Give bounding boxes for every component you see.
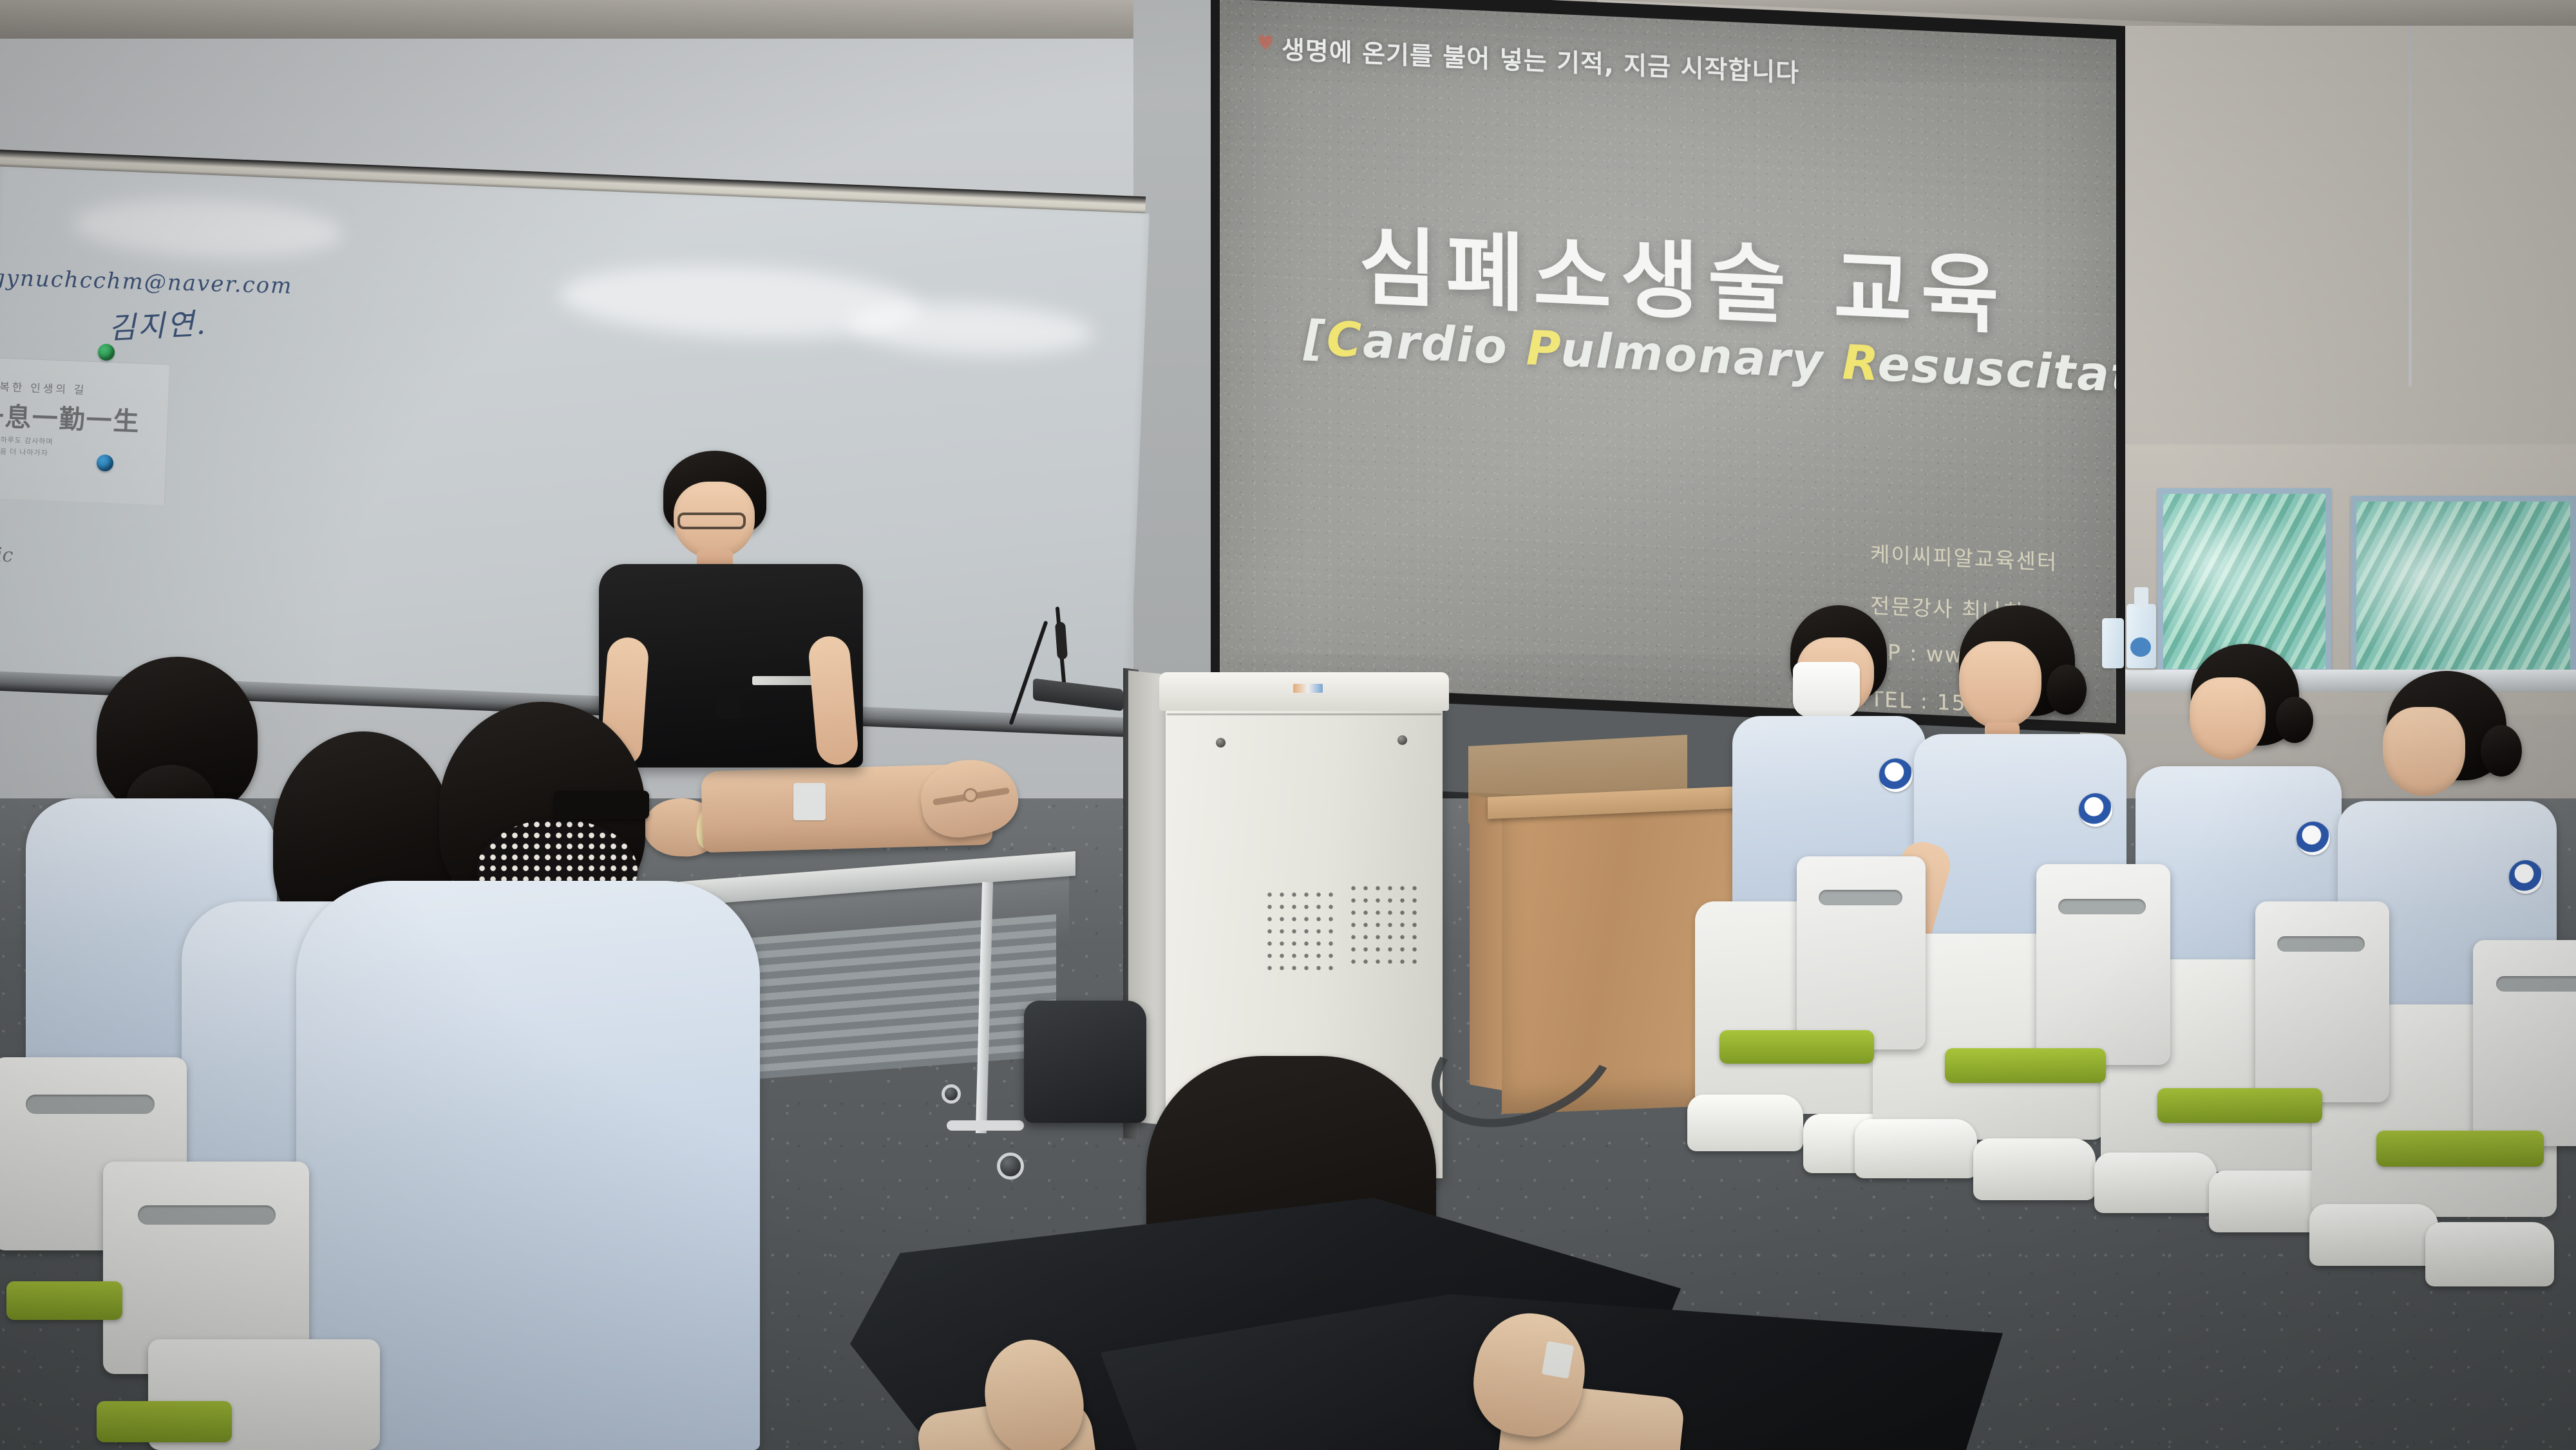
podium-speaker-grille xyxy=(1264,889,1338,976)
nurse-4-bun xyxy=(2481,725,2522,777)
subtitle-highlight-letter: P xyxy=(1526,321,1561,377)
poster-line-main: 一息一勤一生 xyxy=(0,395,141,438)
window-right xyxy=(2351,496,2576,689)
podium-screw xyxy=(1216,738,1226,748)
face-mask xyxy=(1793,662,1860,717)
hand-sanitizer-pump-bottle[interactable] xyxy=(2126,604,2156,668)
hair-bow xyxy=(554,791,649,819)
shoulder-badge xyxy=(1879,758,1913,792)
podium-sticker xyxy=(1293,684,1323,693)
manikin-neck-dial xyxy=(963,788,978,802)
whiteboard-glare xyxy=(71,194,344,263)
chair-seat-cushion xyxy=(97,1401,232,1442)
slide-title: 심폐소생술 교육 xyxy=(1329,197,2038,352)
whiteboard[interactable] xyxy=(0,166,1150,728)
chair-back[interactable] xyxy=(1797,856,1926,1050)
sanitizer-pump-icon xyxy=(2134,587,2148,607)
magnet-green-icon[interactable] xyxy=(98,344,115,361)
presentation-clicker[interactable] xyxy=(716,688,741,719)
window-glass-foliage xyxy=(2163,494,2325,669)
subtitle-text: ulmonary xyxy=(1560,322,1842,390)
chair-back[interactable] xyxy=(2473,940,2576,1146)
chair-handle-slot xyxy=(2496,976,2576,992)
table-caster-wheel xyxy=(942,1084,961,1104)
nurse-2-face xyxy=(1959,641,2041,729)
backpack[interactable] xyxy=(1024,1001,1146,1123)
table-caster-wheel xyxy=(997,1153,1024,1180)
classroom-scene: gynuchcchm@naver.com 김지연. 행복한 인생의 길 一息一勤… xyxy=(0,0,2576,1450)
chair-back[interactable] xyxy=(2255,901,2389,1102)
slide-footer-org: 케이씨피알교육센터 xyxy=(1870,537,2058,576)
nurse-4-face xyxy=(2383,707,2465,796)
chair-handle-slot xyxy=(138,1205,276,1225)
chair-handle-slot xyxy=(2277,936,2365,952)
chair-handle-slot xyxy=(26,1095,155,1114)
shoulder-badge xyxy=(2509,860,2543,894)
subtitle-highlight-letter: R xyxy=(1842,335,1877,392)
subtitle-text: ardio xyxy=(1363,313,1526,376)
chair-seat-cushion xyxy=(1719,1030,1874,1064)
poster-line-sub2: 한 걸음 더 나아가자 xyxy=(0,446,48,458)
nurse-1-shoe xyxy=(1687,1095,1803,1151)
podium-seam xyxy=(1167,713,1441,715)
whiteboard-corner-mark: ic xyxy=(0,544,14,567)
window-glass-foliage xyxy=(2356,502,2570,683)
heart-icon xyxy=(1257,34,1274,50)
chair-handle-slot xyxy=(2058,899,2146,914)
nurse-2-bun xyxy=(2047,664,2087,715)
podium-screw xyxy=(1397,735,1407,745)
table-foot xyxy=(947,1120,1024,1131)
nurse-3-shoe xyxy=(2094,1153,2217,1213)
subtitle-text: [ xyxy=(1303,310,1327,367)
chair-seat-cushion xyxy=(6,1281,122,1320)
poster-line-sub1: 오늘 하루도 감사하며 xyxy=(0,434,53,447)
wall-seam xyxy=(2409,26,2412,386)
sanitizer-label xyxy=(2130,637,2151,657)
subtitle-text: esuscitation] xyxy=(1878,336,2116,408)
nurse-4-shoe xyxy=(2425,1222,2554,1286)
chair-seat-cushion xyxy=(1945,1048,2106,1083)
manikin-chest-pad xyxy=(793,783,826,820)
magnet-blue-icon[interactable] xyxy=(97,455,113,471)
podium-speaker-grille xyxy=(1347,882,1422,970)
screen-texture xyxy=(1220,0,2116,723)
chair-back[interactable] xyxy=(2036,864,2170,1065)
subtitle-highlight-letter: C xyxy=(1327,312,1363,369)
chair-seat-cushion xyxy=(2376,1131,2544,1167)
poster-line-top: 행복한 인생의 길 xyxy=(0,377,87,397)
chair-seat-cushion xyxy=(2157,1088,2322,1123)
glasses-icon xyxy=(677,513,746,529)
slide-tagline: 생명에 온기를 불어 넣는 기적, 지금 시작합니다 xyxy=(1282,30,1799,89)
nurse-3-bun xyxy=(2276,697,2313,743)
hand-sanitizer-bottle[interactable] xyxy=(2102,618,2124,668)
chair-handle-slot xyxy=(1819,890,1902,905)
nurse-2-shoe xyxy=(1855,1119,1977,1178)
projection-screen: 생명에 온기를 불어 넣는 기적, 지금 시작합니다 심폐소생술 교육 [Car… xyxy=(1220,0,2116,723)
nurse-2-shoe xyxy=(1973,1138,2096,1200)
nurse-3-face xyxy=(2190,677,2266,760)
shoulder-badge xyxy=(2079,793,2112,827)
whiteboard-poster: 행복한 인생의 길 一息一勤一生 오늘 하루도 감사하며 한 걸음 더 나아가자 xyxy=(0,357,170,506)
whiteboard-name-note: 김지연. xyxy=(107,300,208,348)
whiteboard-glare xyxy=(848,298,1094,360)
floor-manikin-chest-pad xyxy=(1542,1341,1574,1379)
slide-subtitle: [Cardio Pulmonary Resuscitation] xyxy=(1303,310,2063,400)
shoulder-badge xyxy=(2297,822,2330,855)
nurse-4-shoe xyxy=(2309,1204,2438,1266)
